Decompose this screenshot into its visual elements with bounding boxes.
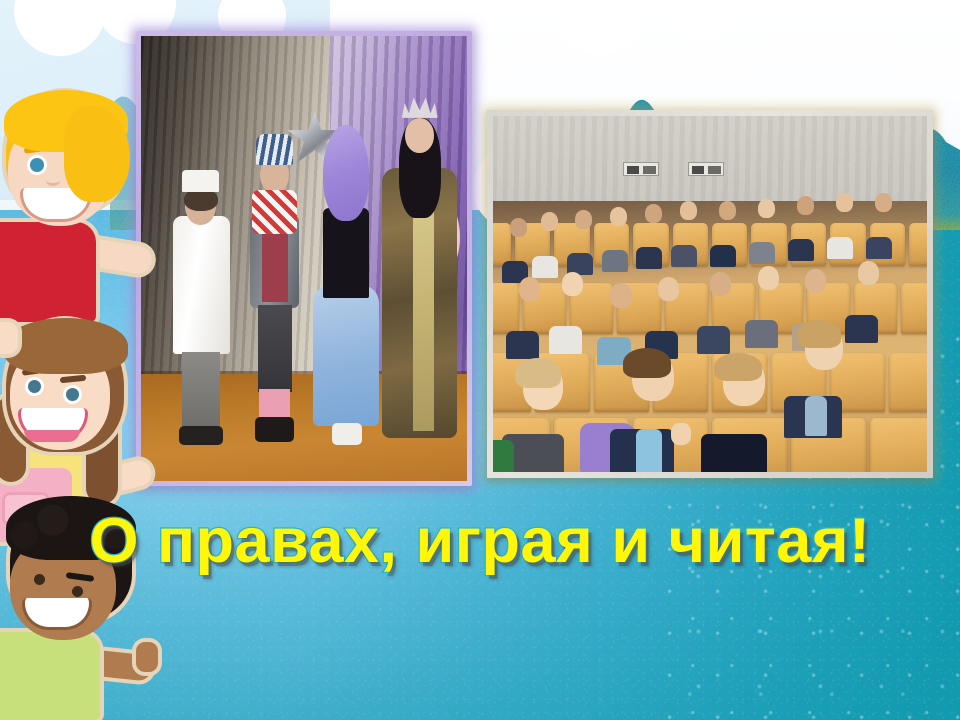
performer-hat-character — [242, 134, 307, 446]
seat — [493, 283, 519, 334]
hand — [136, 642, 158, 672]
seat — [493, 223, 511, 266]
eye — [28, 380, 41, 393]
seat — [870, 418, 927, 472]
school-auditorium-audience-photo[interactable] — [487, 110, 933, 478]
shoes — [179, 426, 223, 445]
curly-hair — [6, 496, 136, 560]
seat — [909, 223, 927, 266]
performer-fairy — [311, 125, 383, 445]
photo-content — [141, 36, 467, 481]
shoes — [255, 417, 294, 442]
hair-fringe — [4, 318, 128, 374]
striped-beanie — [256, 134, 293, 165]
performer-queen — [379, 89, 461, 445]
purple-wig — [323, 125, 369, 221]
photo-content — [493, 116, 927, 472]
eye — [72, 586, 83, 597]
eye — [66, 388, 79, 401]
hand — [0, 322, 18, 354]
medical-cap — [182, 170, 219, 192]
cartoon-dark-haired-boy — [0, 500, 154, 720]
costumed-performers-photo[interactable] — [136, 31, 472, 486]
wall-vent-icon — [688, 162, 724, 176]
red-shirt — [0, 222, 96, 322]
performer-doctor — [167, 170, 235, 446]
cartoon-blonde-boy — [0, 92, 146, 322]
nose — [46, 176, 60, 186]
blue-skirt — [313, 285, 379, 426]
presentation-slide: О правах, играя и читая! — [0, 0, 960, 720]
tongue — [24, 430, 80, 442]
audience-area — [493, 201, 927, 472]
ripped-leggings — [258, 305, 292, 392]
checked-scarf — [252, 190, 296, 234]
green-shirt — [0, 632, 100, 720]
hair — [184, 189, 218, 211]
pink-socks — [259, 389, 290, 420]
shoes — [332, 423, 362, 445]
trousers — [182, 352, 220, 429]
seat — [889, 353, 927, 413]
eye — [34, 574, 45, 585]
seat — [901, 283, 927, 334]
gold-sash — [413, 203, 434, 431]
tiara-icon — [402, 93, 438, 118]
white-coat — [173, 216, 231, 354]
wall-vent-icon — [623, 162, 659, 176]
black-top — [323, 208, 369, 298]
eye — [30, 158, 44, 172]
